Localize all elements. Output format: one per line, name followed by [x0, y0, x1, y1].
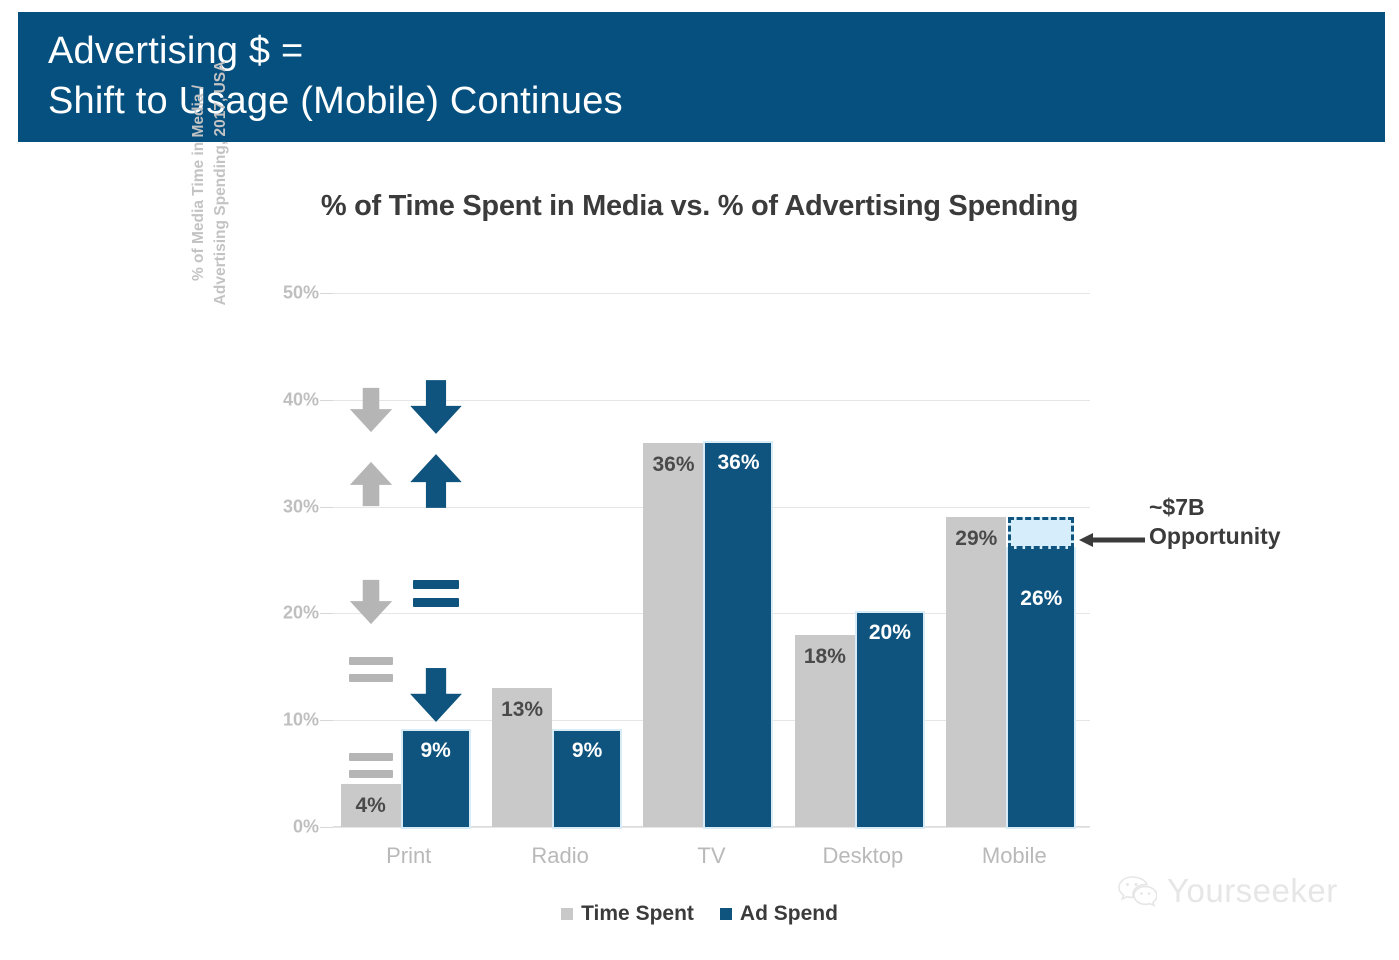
bar-value-label: 9%: [554, 739, 620, 763]
y-tick-label: 40%: [283, 389, 319, 410]
bar-value-label: 13%: [492, 698, 552, 722]
bar-desktop-ad-spend[interactable]: 20%: [857, 613, 923, 827]
plot-area: 0%10%20%30%40%50% 4%9%Print13%9%Radio36%…: [333, 293, 1090, 827]
x-tick-label-tv: TV: [636, 843, 787, 869]
down-arrow-icon: [348, 383, 394, 437]
x-tick-label-mobile: Mobile: [939, 843, 1090, 869]
down-arrow-icon: [348, 575, 394, 629]
y-tick-label: 0%: [293, 817, 319, 838]
opportunity-amount: ~$7B: [1105, 494, 1375, 521]
down-arrow-icon: [408, 377, 464, 437]
y-tick-label: 20%: [283, 603, 319, 624]
bar-value-label: 20%: [857, 621, 923, 645]
legend-item-ad-spend[interactable]: Ad Spend: [720, 902, 838, 926]
bar-desktop-time-spent[interactable]: 18%: [795, 635, 855, 827]
x-tick-label-radio: Radio: [484, 843, 635, 869]
bar-group-tv: 36%36%TV: [636, 293, 787, 827]
y-tick-mark: [320, 613, 333, 614]
arrow-glyph: [408, 665, 464, 725]
bar-mobile-time-spent[interactable]: 29%: [946, 517, 1006, 827]
legend-label-time-spent: Time Spent: [581, 902, 694, 926]
arrow-glyph: [408, 451, 464, 511]
y-tick-mark: [320, 827, 333, 828]
down-arrow-icon: [408, 665, 464, 725]
equals-bar-bottom: [413, 598, 459, 607]
bar-group-desktop: 18%20%Desktop: [787, 293, 938, 827]
watermark: Yourseeker: [1117, 872, 1338, 910]
bar-value-label: 9%: [403, 739, 469, 763]
bar-tv-ad-spend[interactable]: 36%: [705, 443, 771, 827]
up-arrow-icon: [408, 451, 464, 511]
wechat-icon: [1117, 874, 1157, 908]
bar-radio-ad-spend[interactable]: 9%: [554, 731, 620, 827]
y-axis-title-line2: Advertising Spending, 2017, USA: [210, 0, 232, 393]
legend-swatch-ad-spend: [720, 908, 732, 920]
y-tick-mark: [320, 507, 333, 508]
bar-value-label: 36%: [643, 453, 703, 477]
bar-print-ad-spend[interactable]: 9%: [403, 731, 469, 827]
opportunity-annotation: ~$7B Opportunity: [1105, 494, 1375, 550]
opportunity-gap-box: [1008, 517, 1074, 549]
bar-value-label: 18%: [795, 645, 855, 669]
bar-chart-figure: % of Time Spent in Media vs. % of Advert…: [0, 142, 1399, 960]
bar-group-print: 4%9%Print: [333, 293, 484, 827]
watermark-text: Yourseeker: [1167, 872, 1338, 910]
equals-icon: [413, 580, 459, 607]
legend-item-time-spent[interactable]: Time Spent: [561, 902, 694, 926]
equals-bar-bottom: [349, 674, 393, 682]
arrow-glyph: [348, 575, 394, 629]
arrow-glyph: [348, 383, 394, 437]
bar-radio-time-spent[interactable]: 13%: [492, 688, 552, 827]
legend-label-ad-spend: Ad Spend: [740, 902, 838, 926]
equals-icon: [349, 657, 393, 682]
up-arrow-icon: [348, 457, 394, 511]
bar-tv-time-spent[interactable]: 36%: [643, 443, 703, 827]
y-axis-title-line1: % of Media Time in Media /: [188, 0, 210, 393]
bar-print-time-spent[interactable]: 4%: [341, 784, 401, 827]
bar-value-label: 26%: [1008, 587, 1074, 611]
y-tick-mark: [320, 720, 333, 721]
bar-value-label: 36%: [705, 451, 771, 475]
bar-mobile-ad-spend[interactable]: 26%: [1008, 549, 1074, 827]
header-title-line2: Shift to Usage (Mobile) Continues: [48, 76, 1385, 126]
bar-group-radio: 13%9%Radio: [484, 293, 635, 827]
arrow-glyph: [408, 377, 464, 437]
equals-bar-top: [413, 580, 459, 589]
arrow-glyph: [348, 457, 394, 511]
y-tick-label: 50%: [283, 283, 319, 304]
y-tick-label: 10%: [283, 710, 319, 731]
bar-group-mobile: 29%26%Mobile: [939, 293, 1090, 827]
y-tick-label: 30%: [283, 496, 319, 517]
x-tick-label-print: Print: [333, 843, 484, 869]
gridline: [333, 827, 1090, 828]
left-arrow-icon: [1077, 532, 1147, 548]
bar-value-label: 29%: [946, 527, 1006, 551]
y-tick-mark: [320, 293, 333, 294]
legend-swatch-time-spent: [561, 908, 573, 920]
y-tick-mark: [320, 400, 333, 401]
y-axis-title: % of Media Time in Media / Advertising S…: [188, 0, 244, 393]
equals-bar-top: [349, 657, 393, 665]
header-title-line1: Advertising $ =: [48, 26, 1385, 76]
x-tick-label-desktop: Desktop: [787, 843, 938, 869]
bar-value-label: 4%: [341, 794, 401, 818]
